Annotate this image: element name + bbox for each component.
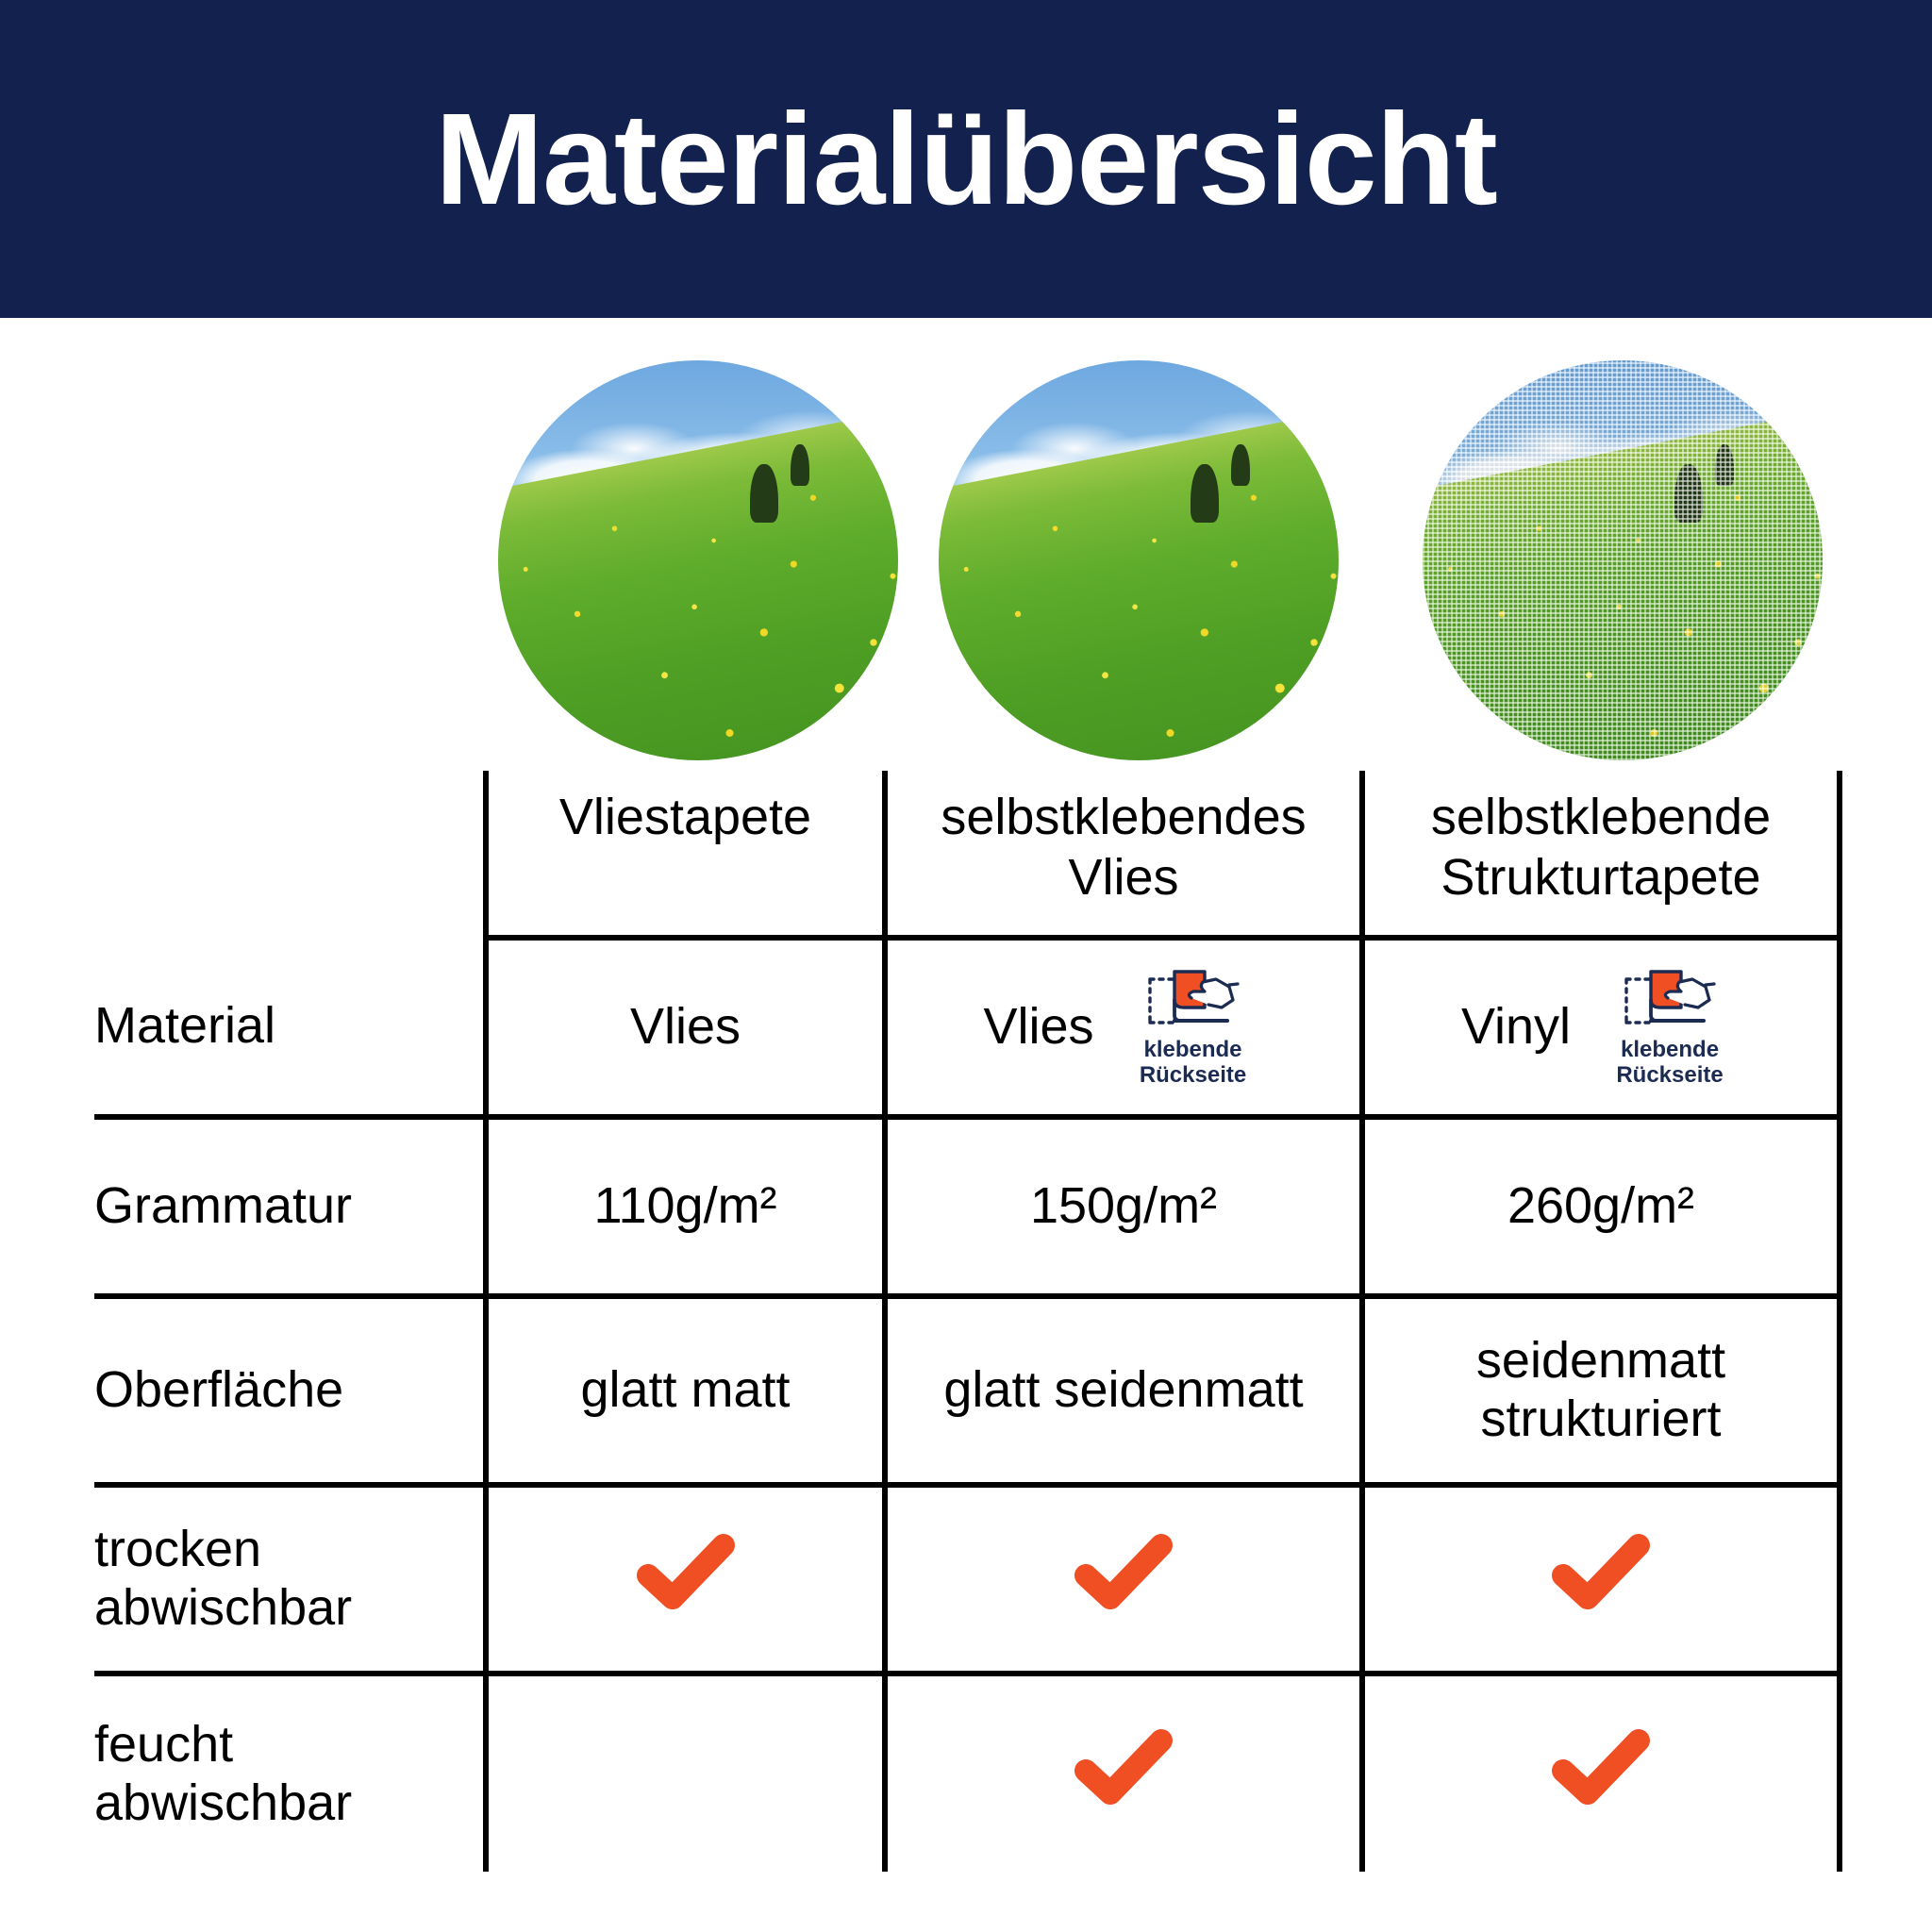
meadow-scene bbox=[1423, 360, 1823, 760]
material-comparison-table-wrap: Vliestapete selbstklebendes Vlies selbst… bbox=[0, 771, 1932, 1932]
column-header-vliestapete: Vliestapete bbox=[486, 771, 885, 938]
column-header-selbstklebendes-vlies: selbstklebendes Vlies bbox=[885, 771, 1362, 938]
column-header-strukturtapete: selbstklebende Strukturtapete bbox=[1362, 771, 1840, 938]
page-header-banner: Materialübersicht bbox=[0, 0, 1932, 318]
adhesive-backing-icon bbox=[1142, 966, 1244, 1034]
row-label-trocken-abwischbar: trocken abwischbar bbox=[94, 1485, 486, 1674]
table-row: Grammatur 110g/m² 150g/m² 260g/m² bbox=[94, 1117, 1840, 1296]
product-thumbnail-vliestapete[interactable] bbox=[498, 360, 898, 760]
product-thumbnail-selbstklebendes-vlies[interactable] bbox=[939, 360, 1339, 760]
table-row: feucht abwischbar bbox=[94, 1674, 1840, 1872]
cell-value: Vlies bbox=[630, 998, 741, 1057]
product-thumbnail-strukturtapete[interactable] bbox=[1423, 360, 1823, 760]
cell-trocken-selbstklebendes-vlies bbox=[885, 1485, 1362, 1674]
cell-oberflaeche-vliestapete: glatt matt bbox=[486, 1296, 885, 1485]
adhesive-badge-label: klebendeRückseite bbox=[1140, 1038, 1246, 1089]
table-header-row: Vliestapete selbstklebendes Vlies selbst… bbox=[94, 771, 1840, 938]
cell-material-strukturtapete: Vinyl bbox=[1362, 938, 1840, 1117]
conifer-tree-icon bbox=[1231, 444, 1250, 486]
cell-oberflaeche-strukturtapete: seidenmatt strukturiert bbox=[1362, 1296, 1840, 1485]
conifer-tree-icon bbox=[791, 444, 809, 486]
cell-value: Vinyl bbox=[1461, 998, 1571, 1057]
checkmark-icon bbox=[1552, 1534, 1650, 1611]
table-row: Material Vlies Vlies bbox=[94, 938, 1840, 1117]
table-row: trocken abwischbar bbox=[94, 1485, 1840, 1674]
product-thumbnail-strip bbox=[0, 360, 1932, 771]
cell-oberflaeche-selbstklebendes-vlies: glatt seidenmatt bbox=[885, 1296, 1362, 1485]
cell-grammatur-selbstklebendes-vlies: 150g/m² bbox=[885, 1117, 1362, 1296]
cell-material-selbstklebendes-vlies: Vlies bbox=[885, 938, 1362, 1117]
checkmark-icon bbox=[637, 1534, 735, 1611]
material-comparison-table: Vliestapete selbstklebendes Vlies selbst… bbox=[94, 771, 1842, 1872]
cell-grammatur-vliestapete: 110g/m² bbox=[486, 1117, 885, 1296]
cell-trocken-vliestapete bbox=[486, 1485, 885, 1674]
cell-feucht-selbstklebendes-vlies bbox=[885, 1674, 1362, 1872]
conifer-tree-icon bbox=[750, 464, 778, 523]
row-label-oberflaeche: Oberfläche bbox=[94, 1296, 486, 1485]
checkmark-icon bbox=[1552, 1729, 1650, 1807]
table-body: Material Vlies Vlies bbox=[94, 938, 1840, 1872]
adhesive-backing-badge: klebendeRückseite bbox=[1599, 966, 1740, 1089]
row-label-grammatur: Grammatur bbox=[94, 1117, 486, 1296]
cell-grammatur-strukturtapete: 260g/m² bbox=[1362, 1117, 1840, 1296]
structure-texture-overlay bbox=[1423, 360, 1823, 760]
checkmark-icon bbox=[1074, 1729, 1173, 1807]
row-label-material: Material bbox=[94, 938, 486, 1117]
conifer-tree-icon bbox=[1191, 464, 1219, 523]
cell-material-vliestapete: Vlies bbox=[486, 938, 885, 1117]
adhesive-backing-badge: klebendeRückseite bbox=[1123, 966, 1264, 1089]
adhesive-backing-icon bbox=[1619, 966, 1721, 1034]
page-title: Materialübersicht bbox=[435, 94, 1497, 225]
meadow-scene bbox=[939, 360, 1339, 760]
table-row: Oberfläche glatt matt glatt seidenmatt s… bbox=[94, 1296, 1840, 1485]
adhesive-badge-label: klebendeRückseite bbox=[1616, 1038, 1723, 1089]
checkmark-icon bbox=[1074, 1534, 1173, 1611]
cell-value: Vlies bbox=[983, 998, 1093, 1057]
table-corner-cell bbox=[94, 771, 486, 938]
cell-feucht-strukturtapete bbox=[1362, 1674, 1840, 1872]
meadow-scene bbox=[498, 360, 898, 760]
cell-trocken-strukturtapete bbox=[1362, 1485, 1840, 1674]
cell-feucht-vliestapete bbox=[486, 1674, 885, 1872]
row-label-feucht-abwischbar: feucht abwischbar bbox=[94, 1674, 486, 1872]
